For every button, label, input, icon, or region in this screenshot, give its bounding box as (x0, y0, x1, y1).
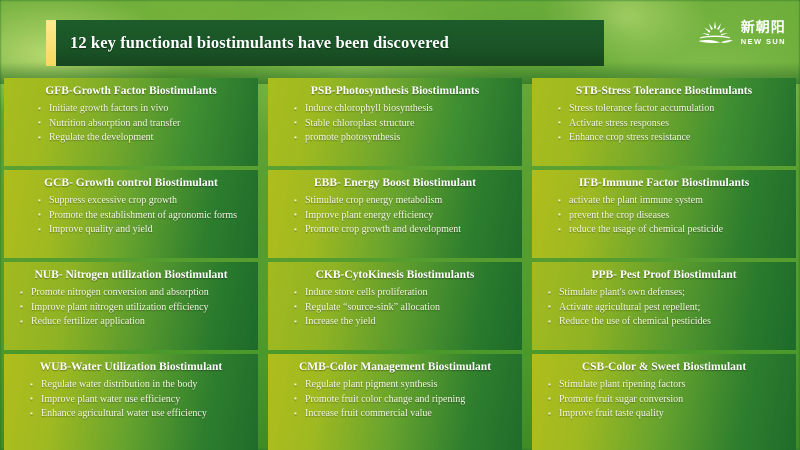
list-item: Reduce fertilizer application (18, 315, 248, 330)
card-bullet-list: Promote nitrogen conversion and absorpti… (18, 286, 248, 330)
list-item: Activate stress responses (556, 117, 786, 132)
list-item: Induce store cells proliferation (292, 286, 512, 301)
list-item: Stimulate plant's own defenses; (546, 286, 786, 301)
sunrise-over-field-icon (695, 16, 735, 50)
card-bullet-list: Induce chlorophyll biosynthesis Stable c… (292, 102, 512, 146)
list-item: Initiate growth factors in vivo (36, 102, 248, 117)
list-item: Enhance crop stress resistance (556, 131, 786, 146)
card-title: PSB-Photosynthesis Biostimulants (278, 85, 512, 97)
slide-header: 12 key functional biostimulants have bee… (0, 0, 800, 78)
card-bullet-list: Stimulate plant ripening factors Promote… (546, 378, 786, 422)
title-bar: 12 key functional biostimulants have bee… (56, 20, 604, 66)
list-item: Increase the yield (292, 315, 512, 330)
list-item: Regulate plant pigment synthesis (292, 378, 512, 393)
biostimulant-card-grid: GFB-Growth Factor Biostimulants Initiate… (0, 78, 800, 450)
card-wub[interactable]: WUB-Water Utilization Biostimulant Regul… (4, 354, 258, 450)
list-item: Improve quality and yield (36, 223, 248, 238)
card-bullet-list: Suppress excessive crop growth Promote t… (36, 194, 248, 238)
card-cmb[interactable]: CMB-Color Management Biostimulant Regula… (268, 354, 522, 450)
card-title: CSB-Color & Sweet Biostimulant (542, 361, 786, 373)
list-item: reduce the usage of chemical pesticide (556, 223, 786, 238)
card-title: NUB- Nitrogen utilization Biostimulant (14, 269, 248, 281)
list-item: Increase fruit commercial value (292, 407, 512, 422)
list-item: Improve plant nitrogen utilization effic… (18, 301, 248, 316)
brand-wordmark: 新朝阳 NEW SUN (741, 21, 786, 46)
card-title: WUB-Water Utilization Biostimulant (14, 361, 248, 373)
card-title: CKB-CytoKinesis Biostimulants (278, 269, 512, 281)
card-ifb[interactable]: IFB-Immune Factor Biostimulants activate… (532, 170, 796, 258)
card-psb[interactable]: PSB-Photosynthesis Biostimulants Induce … (268, 78, 522, 166)
list-item: Activate agricultural pest repellent; (546, 301, 786, 316)
card-title: GCB- Growth control Biostimulant (14, 177, 248, 189)
list-item: Promote fruit sugar conversion (546, 393, 786, 408)
card-title: STB-Stress Tolerance Biostimulants (542, 85, 786, 97)
card-bullet-list: activate the plant immune system prevent… (556, 194, 786, 238)
list-item: prevent the crop diseases (556, 209, 786, 224)
list-item: Regulate the development (36, 131, 248, 146)
list-item: Induce chlorophyll biosynthesis (292, 102, 512, 117)
card-title: EBB- Energy Boost Biostimulant (278, 177, 512, 189)
card-bullet-list: Stress tolerance factor accumulation Act… (556, 102, 786, 146)
card-bullet-list: Induce store cells proliferation Regulat… (292, 286, 512, 330)
card-nub[interactable]: NUB- Nitrogen utilization Biostimulant P… (4, 262, 258, 350)
list-item: Suppress excessive crop growth (36, 194, 248, 209)
card-stb[interactable]: STB-Stress Tolerance Biostimulants Stres… (532, 78, 796, 166)
card-title: CMB-Color Management Biostimulant (278, 361, 512, 373)
card-ppb[interactable]: PPB- Pest Proof Biostimulant Stimulate p… (532, 262, 796, 350)
page-title: 12 key functional biostimulants have bee… (70, 33, 449, 53)
card-gcb[interactable]: GCB- Growth control Biostimulant Suppres… (4, 170, 258, 258)
card-bullet-list: Regulate water distribution in the body … (28, 378, 248, 422)
list-item: Stress tolerance factor accumulation (556, 102, 786, 117)
list-item: Nutrition absorption and transfer (36, 117, 248, 132)
list-item: Stimulate crop energy metabolism (292, 194, 512, 209)
card-bullet-list: Regulate plant pigment synthesis Promote… (292, 378, 512, 422)
list-item: Improve fruit taste quality (546, 407, 786, 422)
card-csb[interactable]: CSB-Color & Sweet Biostimulant Stimulate… (532, 354, 796, 450)
list-item: Regulate “source-sink” allocation (292, 301, 512, 316)
card-title: PPB- Pest Proof Biostimulant (542, 269, 786, 281)
card-bullet-list: Stimulate plant's own defenses; Activate… (546, 286, 786, 330)
list-item: Enhance agricultural water use efficienc… (28, 407, 248, 422)
card-bullet-list: Stimulate crop energy metabolism Improve… (292, 194, 512, 238)
list-item: Regulate water distribution in the body (28, 378, 248, 393)
list-item: Stable chloroplast structure (292, 117, 512, 132)
list-item: Promote crop growth and development (292, 223, 512, 238)
brand-name-en: NEW SUN (741, 38, 786, 46)
card-title: IFB-Immune Factor Biostimulants (542, 177, 786, 189)
list-item: promote photosynthesis (292, 131, 512, 146)
list-item: Promote fruit color change and ripening (292, 393, 512, 408)
card-ckb[interactable]: CKB-CytoKinesis Biostimulants Induce sto… (268, 262, 522, 350)
list-item: Stimulate plant ripening factors (546, 378, 786, 393)
brand-name-cn: 新朝阳 (741, 21, 786, 35)
card-title: GFB-Growth Factor Biostimulants (14, 85, 248, 97)
list-item: Improve plant energy efficiency (292, 209, 512, 224)
card-ebb[interactable]: EBB- Energy Boost Biostimulant Stimulate… (268, 170, 522, 258)
list-item: Reduce the use of chemical pesticides (546, 315, 786, 330)
list-item: Promote nitrogen conversion and absorpti… (18, 286, 248, 301)
list-item: activate the plant immune system (556, 194, 786, 209)
list-item: Promote the establishment of agronomic f… (36, 209, 248, 224)
list-item: Improve plant water use efficiency (28, 393, 248, 408)
brand-logo: 新朝阳 NEW SUN (695, 16, 786, 50)
card-bullet-list: Initiate growth factors in vivo Nutritio… (36, 102, 248, 146)
card-gfb[interactable]: GFB-Growth Factor Biostimulants Initiate… (4, 78, 258, 166)
